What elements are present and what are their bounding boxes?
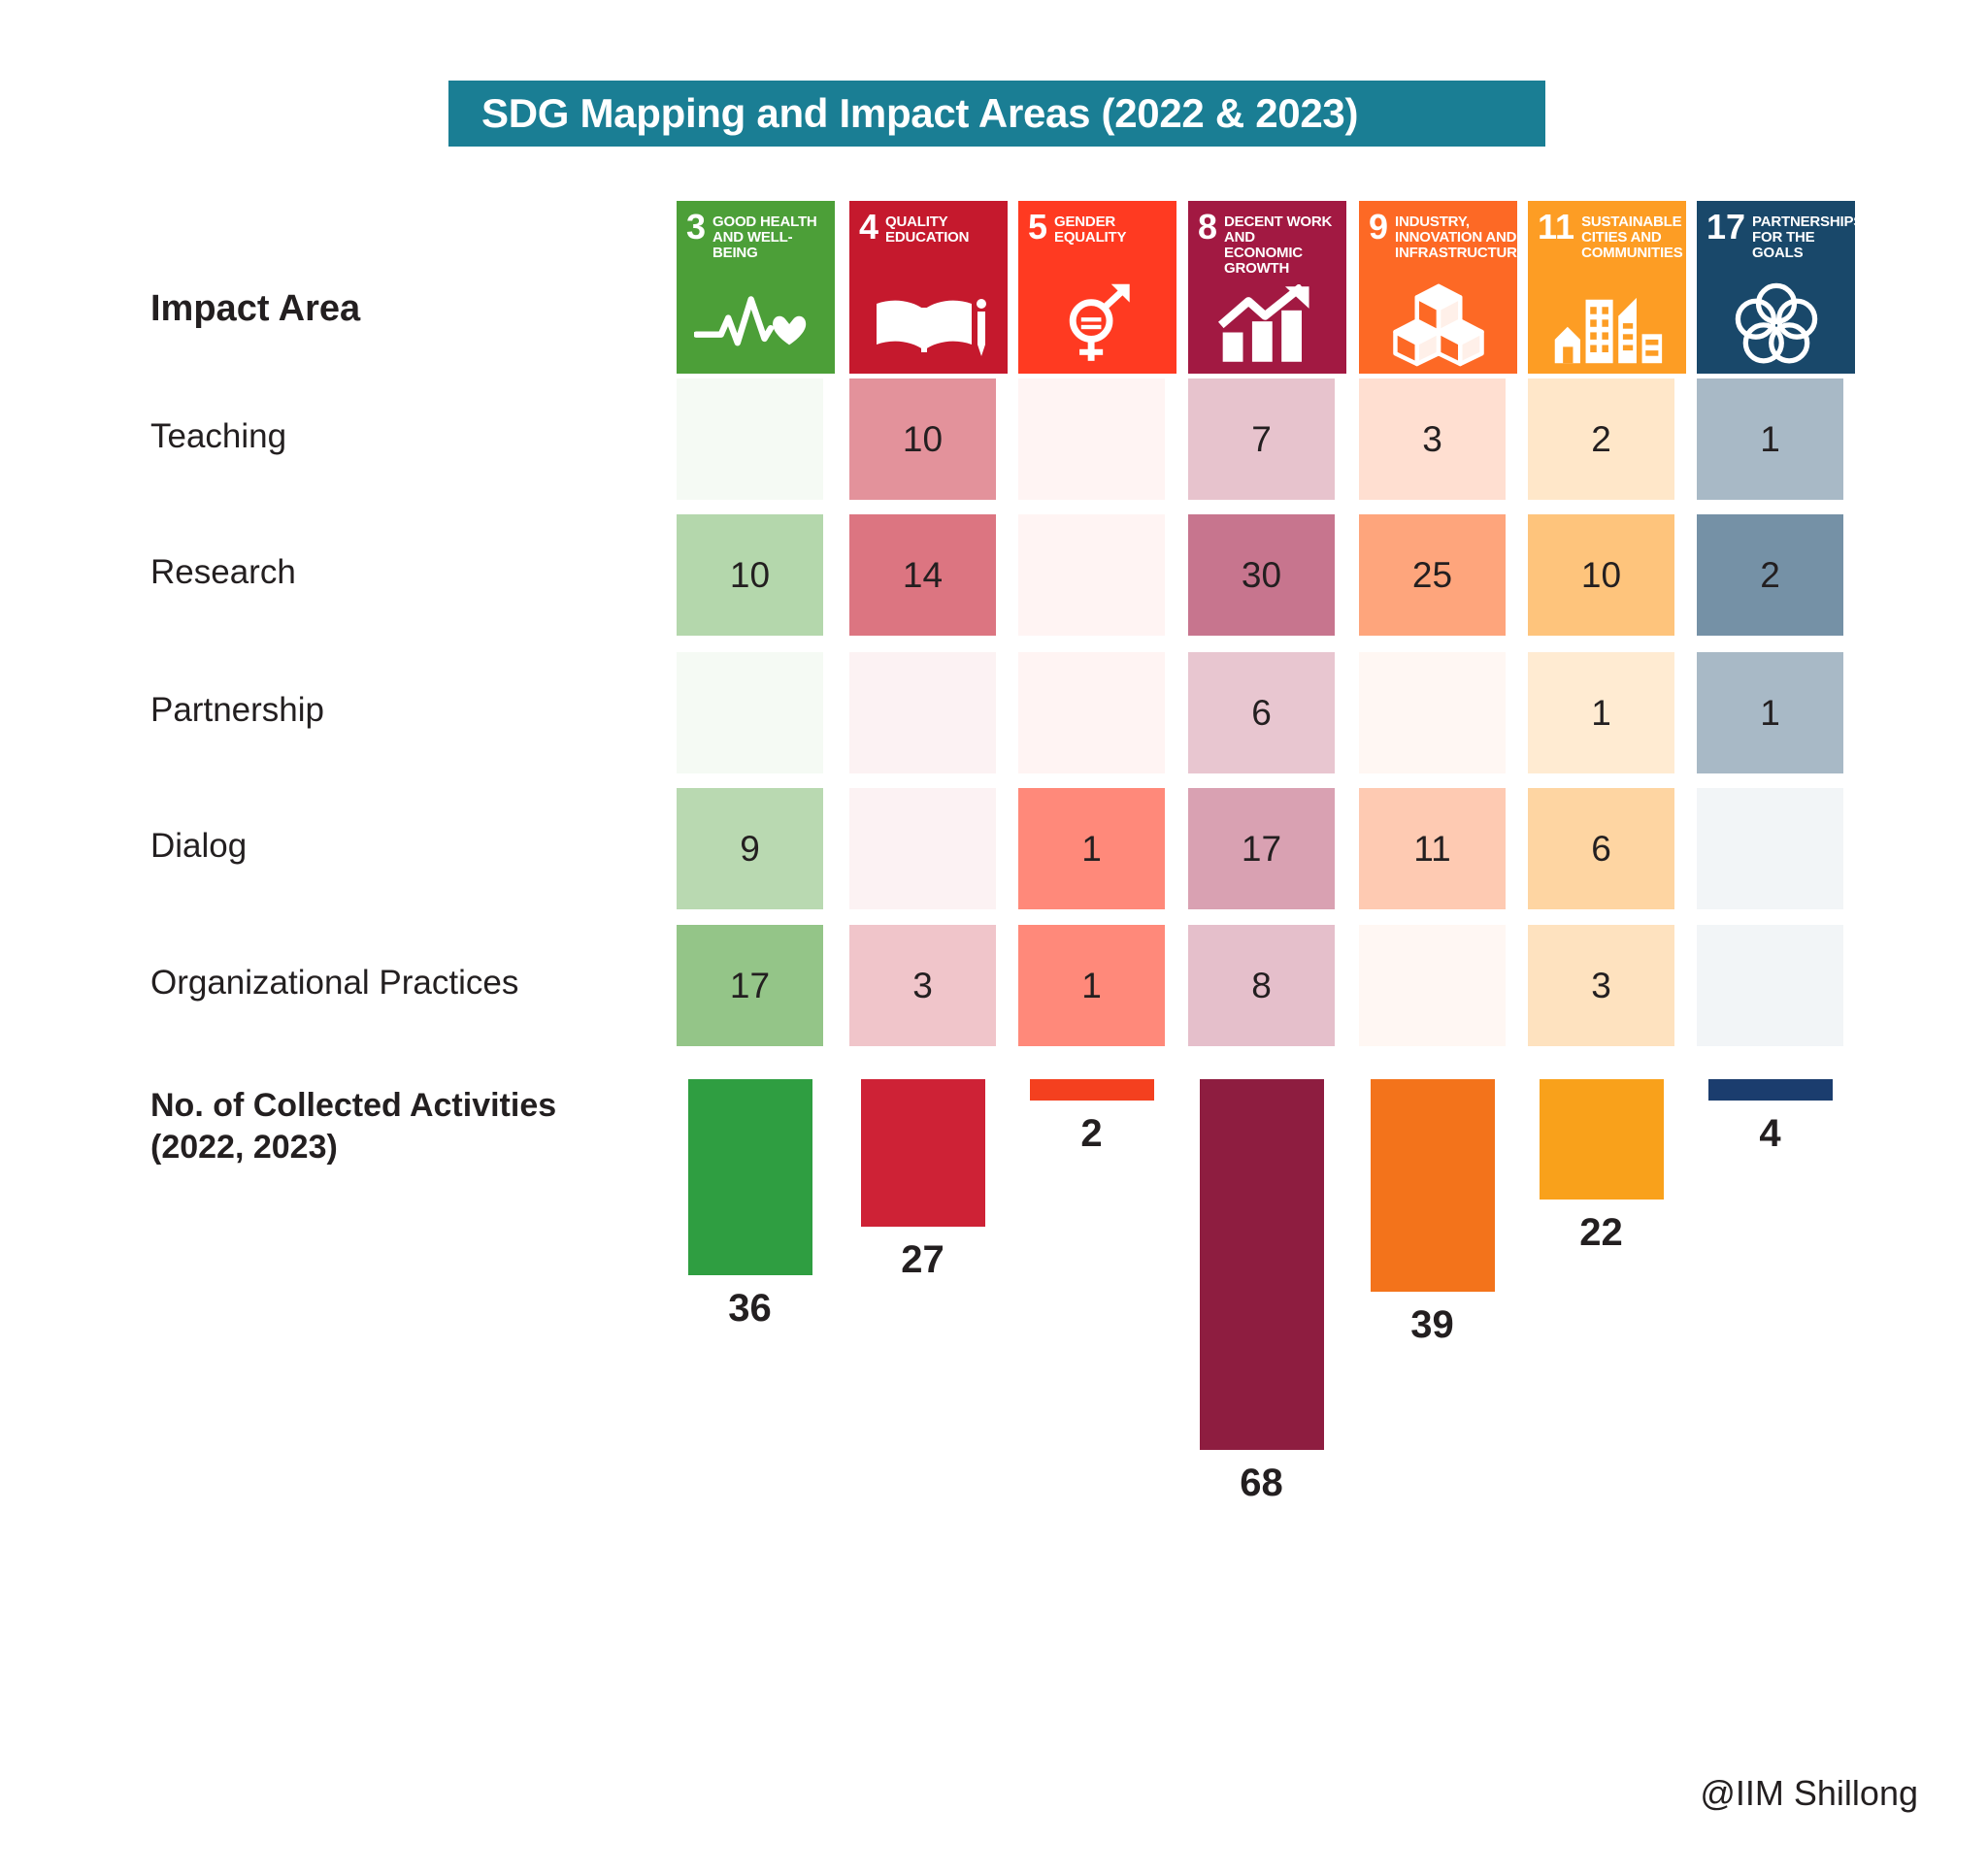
attribution: @IIM Shillong xyxy=(1700,1773,1918,1814)
activity-bar-value: 68 xyxy=(1200,1462,1324,1505)
page-title: SDG Mapping and Impact Areas (2022 & 202… xyxy=(448,90,1358,137)
heatmap-cell-value: 10 xyxy=(1581,555,1621,596)
collected-activities-label-line2: (2022, 2023) xyxy=(150,1127,655,1168)
heatmap-cell-value: 17 xyxy=(730,966,770,1006)
sdg-number-4: 4 xyxy=(859,213,878,242)
heatmap-cell-value: 10 xyxy=(730,555,770,596)
row-label-teaching: Teaching xyxy=(150,417,286,456)
sdg-title-11: SUSTAINABLE CITIES AND COMMUNITIES xyxy=(1581,213,1682,261)
activity-bar xyxy=(1030,1079,1154,1101)
gender-equality-icon xyxy=(1018,282,1176,366)
activity-bar xyxy=(1371,1079,1495,1292)
heatmap-cell: 2 xyxy=(1697,514,1843,636)
heatmap-cell-value: 25 xyxy=(1412,555,1452,596)
collected-activities-label: No. of Collected Activities (2022, 2023) xyxy=(150,1085,655,1167)
heatmap-cell-value: 17 xyxy=(1242,829,1281,870)
sdg-header-tile-11[interactable]: 11 SUSTAINABLE CITIES AND COMMUNITIES xyxy=(1528,201,1686,374)
heatmap-cell: 17 xyxy=(677,925,823,1046)
sdg-header-tile-9[interactable]: 9 INDUSTRY, INNOVATION AND INFRASTRUCTUR… xyxy=(1359,201,1517,374)
heatmap-cell-value: 14 xyxy=(903,555,943,596)
heatmap-cell xyxy=(1697,925,1843,1046)
heatmap-cell: 11 xyxy=(1359,788,1506,909)
heatmap-cell-value: 1 xyxy=(1760,419,1780,460)
heatmap-cell-value: 2 xyxy=(1760,555,1780,596)
activity-bar xyxy=(861,1079,985,1227)
sdg-header-tile-3[interactable]: 3 GOOD HEALTH AND WELL-BEING xyxy=(677,201,835,374)
heatmap-cell xyxy=(1018,652,1165,773)
heatmap-cell: 17 xyxy=(1188,788,1335,909)
heatmap-cell: 1 xyxy=(1697,378,1843,500)
heartbeat-icon xyxy=(677,282,835,366)
sdg-header-tile-8[interactable]: 8 DECENT WORK AND ECONOMIC GROWTH xyxy=(1188,201,1346,374)
heatmap-cell: 1 xyxy=(1018,788,1165,909)
heatmap-cell: 6 xyxy=(1188,652,1335,773)
sdg-title-9: INDUSTRY, INNOVATION AND INFRASTRUCTURE xyxy=(1395,213,1517,261)
heatmap-cell-value: 10 xyxy=(903,419,943,460)
sdg-number-17: 17 xyxy=(1706,213,1745,242)
sdg-number-3: 3 xyxy=(686,213,706,242)
activity-bar-value: 2 xyxy=(1030,1112,1154,1156)
heatmap-cell-value: 9 xyxy=(740,829,760,870)
heatmap-cell: 2 xyxy=(1528,378,1674,500)
heatmap-cell: 14 xyxy=(849,514,996,636)
activity-bar xyxy=(1540,1079,1664,1200)
sdg-header-tile-4[interactable]: 4 QUALITY EDUCATION xyxy=(849,201,1008,374)
sdg-number-8: 8 xyxy=(1198,213,1217,242)
collected-activities-label-line1: No. of Collected Activities xyxy=(150,1085,655,1127)
heatmap-cell: 1 xyxy=(1018,925,1165,1046)
heatmap-cell: 1 xyxy=(1528,652,1674,773)
heatmap-cell xyxy=(677,652,823,773)
heatmap-cell xyxy=(1697,788,1843,909)
heatmap-cell xyxy=(1018,514,1165,636)
heatmap-cell: 7 xyxy=(1188,378,1335,500)
heatmap-cell: 8 xyxy=(1188,925,1335,1046)
stacked-cubes-icon xyxy=(1359,282,1517,366)
heatmap-cell-value: 1 xyxy=(1591,693,1611,734)
impact-area-header-label: Impact Area xyxy=(150,288,360,330)
heatmap-cell xyxy=(1359,652,1506,773)
heatmap-cell xyxy=(677,378,823,500)
heatmap-cell: 25 xyxy=(1359,514,1506,636)
heatmap-cell-value: 3 xyxy=(1422,419,1442,460)
activity-bar xyxy=(1708,1079,1833,1101)
heatmap-cell xyxy=(849,652,996,773)
sdg-title-5: GENDER EQUALITY xyxy=(1054,213,1167,246)
heatmap-cell-value: 1 xyxy=(1081,829,1102,870)
heatmap-cell: 3 xyxy=(1359,378,1506,500)
heatmap-cell-value: 1 xyxy=(1760,693,1780,734)
heatmap-cell-value: 3 xyxy=(912,966,933,1006)
sdg-title-4: QUALITY EDUCATION xyxy=(885,213,998,246)
sdg-title-17: PARTNERSHIPS FOR THE GOALS xyxy=(1752,213,1855,261)
heatmap-cell: 10 xyxy=(849,378,996,500)
heatmap-cell xyxy=(1359,925,1506,1046)
open-book-pencil-icon xyxy=(849,282,1008,366)
activity-bar xyxy=(688,1079,812,1275)
heatmap-cell-value: 30 xyxy=(1242,555,1281,596)
growth-bars-arrow-icon xyxy=(1188,282,1346,366)
heatmap-cell-value: 3 xyxy=(1591,966,1611,1006)
heatmap-cell-value: 7 xyxy=(1251,419,1272,460)
heatmap-cell: 30 xyxy=(1188,514,1335,636)
sdg-title-8: DECENT WORK AND ECONOMIC GROWTH xyxy=(1224,213,1337,277)
heatmap-cell: 10 xyxy=(677,514,823,636)
heatmap-cell xyxy=(1018,378,1165,500)
activity-bar-value: 27 xyxy=(861,1238,985,1282)
heatmap-cell: 10 xyxy=(1528,514,1674,636)
page-title-banner: SDG Mapping and Impact Areas (2022 & 202… xyxy=(448,81,1545,147)
heatmap-cell-value: 6 xyxy=(1251,693,1272,734)
heatmap-cell: 3 xyxy=(849,925,996,1046)
row-label-research: Research xyxy=(150,553,296,592)
row-label-dialog: Dialog xyxy=(150,827,247,866)
sdg-header-tile-17[interactable]: 17 PARTNERSHIPS FOR THE GOALS xyxy=(1697,201,1855,374)
sdg-number-11: 11 xyxy=(1538,213,1574,242)
row-label-partnership: Partnership xyxy=(150,691,324,730)
heatmap-cell-value: 8 xyxy=(1251,966,1272,1006)
sdg-header-tile-5[interactable]: 5 GENDER EQUALITY xyxy=(1018,201,1176,374)
activity-bar-value: 4 xyxy=(1708,1112,1833,1156)
activity-bar-value: 22 xyxy=(1540,1211,1664,1255)
heatmap-cell xyxy=(849,788,996,909)
row-label-organizational-practices: Organizational Practices xyxy=(150,964,518,1003)
sdg-title-3: GOOD HEALTH AND WELL-BEING xyxy=(712,213,825,261)
activity-bar-value: 39 xyxy=(1371,1303,1495,1347)
activity-bar xyxy=(1200,1079,1324,1450)
heatmap-cell: 3 xyxy=(1528,925,1674,1046)
heatmap-cell: 6 xyxy=(1528,788,1674,909)
heatmap-cell: 1 xyxy=(1697,652,1843,773)
heatmap-cell-value: 11 xyxy=(1413,829,1450,870)
heatmap-cell-value: 6 xyxy=(1591,829,1611,870)
five-circles-icon xyxy=(1697,282,1855,366)
sdg-number-9: 9 xyxy=(1369,213,1388,242)
heatmap-cell-value: 2 xyxy=(1591,419,1611,460)
city-buildings-icon xyxy=(1528,282,1686,366)
heatmap-cell: 9 xyxy=(677,788,823,909)
activity-bar-value: 36 xyxy=(688,1287,812,1331)
sdg-number-5: 5 xyxy=(1028,213,1047,242)
heatmap-cell-value: 1 xyxy=(1081,966,1102,1006)
